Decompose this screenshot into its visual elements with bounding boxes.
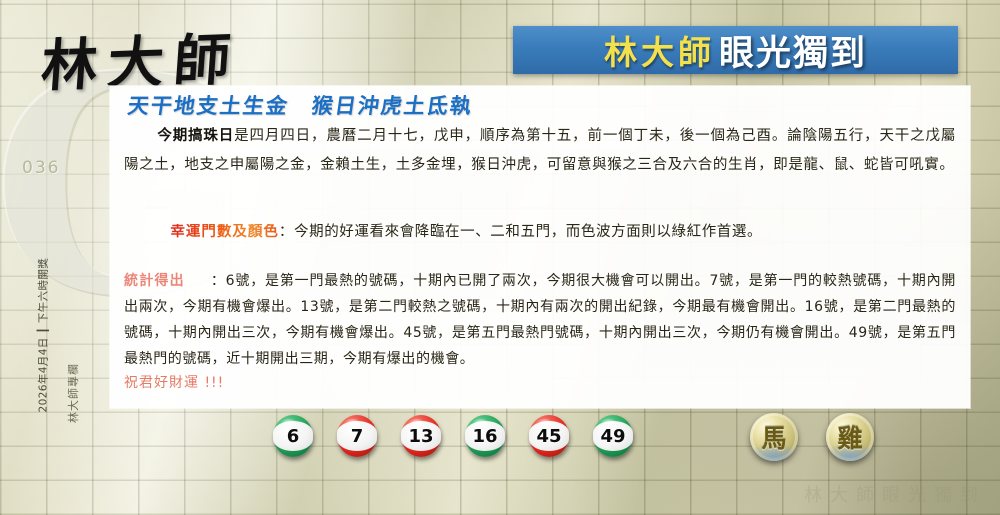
- article-main-paragraph: 今期搞珠日是四月四日，農曆二月十七，戊申，順序為第十五，前一個丁未，後一個為己酉…: [124, 122, 956, 180]
- main-body-text: 是四月四日，農曆二月十七，戊申，順序為第十五，前一個丁未，後一個為己酉。論陰陽五…: [124, 128, 956, 173]
- lottery-ball: 6: [273, 415, 313, 457]
- lottery-ball-number: 45: [536, 426, 561, 447]
- lottery-ball: 13: [401, 415, 441, 457]
- predicted-numbers-row: 6713164549: [273, 415, 633, 457]
- lottery-ball: 45: [529, 415, 569, 457]
- zodiac-medallion-row: 馬雞: [750, 413, 874, 461]
- lottery-ball-number: 7: [351, 426, 364, 447]
- article-headline: 天干地支土生金 猴日沖虎土氐執: [126, 90, 475, 120]
- lottery-ball: 16: [465, 415, 505, 457]
- banner-text-white: 眼光獨到: [719, 26, 867, 74]
- vertical-slogan-label: 林大師專欄: [65, 233, 81, 423]
- lottery-ball-number: 16: [472, 426, 497, 447]
- lottery-ball-number: 13: [408, 426, 433, 447]
- stats-heading: 統計得出: [124, 273, 185, 289]
- zodiac-medallion: 馬: [750, 413, 798, 461]
- banner-text-yellow: 林大師: [604, 26, 715, 74]
- header-banner: 林大師 眼光獨到: [513, 26, 958, 74]
- lottery-ball: 49: [593, 415, 633, 457]
- lottery-ball-number: 49: [600, 426, 625, 447]
- lottery-ball: 7: [337, 415, 377, 457]
- article-sheet: 天干地支土生金 猴日沖虎土氐執 今期搞珠日是四月四日，農曆二月十七，戊申，順序為…: [110, 86, 970, 408]
- lottery-ball-number: 6: [287, 426, 300, 447]
- zodiac-glyph: 馬: [761, 419, 786, 455]
- lucky-heading: 幸運門數及顏色: [170, 224, 279, 240]
- issue-number: 036: [22, 158, 60, 178]
- zodiac-glyph: 雞: [837, 419, 862, 455]
- vertical-date-label: 2026年4月4日 ┃ 下午六時開獎: [36, 203, 51, 413]
- blessing-text: 祝君好財運 !!!: [124, 372, 224, 392]
- lucky-paragraph: 幸運門數及顏色：今期的好運看來會降臨在一、二和五門，而色波方面則以綠紅作首選。: [124, 218, 956, 247]
- stats-paragraph: 統計得出：6號，是第一門最熱的號碼，十期內已開了兩次，今期很大機會可以開出。7號…: [124, 268, 956, 372]
- main-lead-text: 今期搞珠日: [157, 128, 234, 144]
- lucky-body-text: ：今期的好運看來會降臨在一、二和五門，而色波方面則以綠紅作首選。: [279, 224, 762, 240]
- zodiac-medallion: 雞: [826, 413, 874, 461]
- stats-body-text: ：6號，是第一門最熱的號碼，十期內已開了兩次，今期很大機會可以開出。7號，是第一…: [124, 273, 956, 367]
